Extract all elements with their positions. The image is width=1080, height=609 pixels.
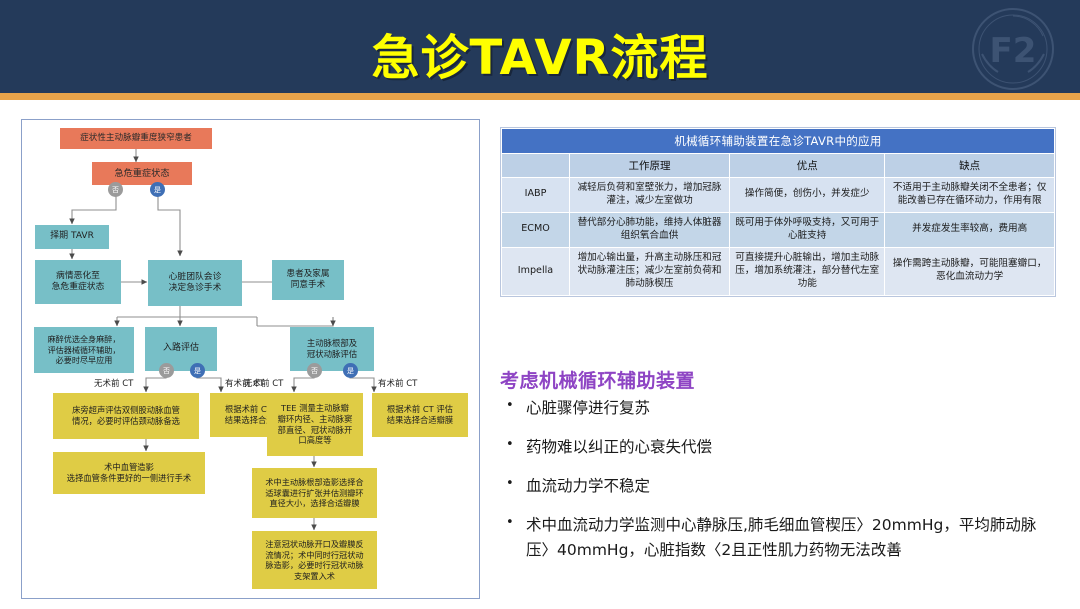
mcs-device-table: 机械循环辅助装置在急诊TAVR中的应用 工作原理 优点 缺点 IABP 减轻后负… [500, 127, 1056, 297]
list-item: • 心脏骤停进行复苏 [500, 396, 1060, 421]
list-item-label: 术中血流动力学监测中心静脉压,肺毛细血管楔压〉20mmHg，平均肺动脉压〉40m… [526, 513, 1046, 563]
list-item: • 术中血流动力学监测中心静脉压,肺毛细血管楔压〉20mmHg，平均肺动脉压〉4… [500, 513, 1060, 563]
list-item: • 药物难以纠正的心衰失代偿 [500, 435, 1060, 460]
flow-node-critical-state: 急危重症状态 [92, 162, 192, 185]
cell-advantage: 操作简便，创伤小，并发症少 [730, 178, 885, 213]
decision-badge-no-1: 否 [108, 182, 123, 197]
list-item: • 血流动力学不稳定 [500, 474, 1060, 499]
flow-node-symptomatic-as: 症状性主动脉瓣重度狭窄患者 [60, 128, 212, 149]
tavr-flowchart-panel: 症状性主动脉瓣重度狭窄患者 急危重症状态 否 是 择期 TAVR 病情恶化至 急… [21, 119, 480, 599]
bullet-marker-icon: • [500, 435, 526, 455]
flow-node-coronary-ostia-check: 注意冠状动脉开口及瓣膜反 流情况；术中同时行冠状动 脉造影，必要时行冠状动脉 支… [252, 531, 377, 589]
table-title: 机械循环辅助装置在急诊TAVR中的应用 [502, 129, 1055, 154]
fuwai-hospital-logo: F2 [960, 6, 1066, 92]
header-accent-bar [0, 93, 1080, 100]
col-header-principle: 工作原理 [570, 154, 730, 178]
cell-disadvantage: 不适用于主动脉瓣关闭不全患者；仅能改善已存在循环动力，作用有限 [885, 178, 1055, 213]
cell-device: ECMO [502, 212, 570, 247]
bullet-marker-icon: • [500, 396, 526, 416]
col-header-advantage: 优点 [730, 154, 885, 178]
cell-disadvantage: 操作需跨主动脉瓣，可能阻塞瓣口，恶化血流动力学 [885, 247, 1055, 295]
flow-node-aortic-root-assessment: 主动脉根部及 冠状动脉评估 [290, 327, 374, 371]
flow-node-bedside-ultrasound: 床旁超声评估双侧股动脉血管 情况，必要时评估颈动脉备选 [53, 393, 199, 439]
cell-advantage: 可直接提升心脏输出，增加主动脉压，增加系统灌注，部分替代左室功能 [730, 247, 885, 295]
list-item-label: 血流动力学不稳定 [526, 474, 650, 499]
flow-node-consent: 患者及家属 同意手术 [272, 260, 344, 300]
list-item-label: 药物难以纠正的心衰失代偿 [526, 435, 712, 460]
cell-device: Impella [502, 247, 570, 295]
svg-text:F2: F2 [990, 31, 1037, 71]
flow-node-tee-measurement: TEE 测量主动脉瓣 瓣环内径、主动脉窦 部直径、冠状动脉开 口高度等 [267, 393, 363, 456]
table-header-row: 工作原理 优点 缺点 [502, 154, 1055, 178]
flow-node-heart-team: 心脏团队会诊 决定急诊手术 [148, 260, 242, 306]
flow-node-root-angio-balloon: 术中主动脉根部造影选择合 适球囊进行扩张并估测瓣环 直径大小，选择合适瓣膜 [252, 468, 377, 518]
cell-principle: 替代部分心肺功能，维持人体脏器组织氧合血供 [570, 212, 730, 247]
decision-badge-yes-1: 是 [150, 182, 165, 197]
edge-label-no-preop-ct-2: 无术前 CT [244, 377, 283, 389]
flow-node-deterioration: 病情恶化至 急危重症状态 [35, 260, 121, 304]
flow-node-anesthesia: 麻醉优选全身麻醉， 评估器械循环辅助， 必要时尽早应用 [34, 327, 134, 373]
page-title: 急诊TAVR流程 [0, 18, 1080, 88]
col-header-device [502, 154, 570, 178]
table-row: IABP 减轻后负荷和室壁张力，增加冠脉灌注，减少左室做功 操作简便，创伤小，并… [502, 178, 1055, 213]
decision-badge-no-3: 否 [307, 363, 322, 378]
flow-node-intraop-angiography: 术中血管造影 选择血管条件更好的一侧进行手术 [53, 452, 205, 494]
cell-device: IABP [502, 178, 570, 213]
edge-label-has-preop-ct-2: 有术前 CT [378, 377, 417, 389]
col-header-disadvantage: 缺点 [885, 154, 1055, 178]
list-item-label: 心脏骤停进行复苏 [526, 396, 650, 421]
table-row: ECMO 替代部分心肺功能，维持人体脏器组织氧合血供 既可用于体外呼吸支持，又可… [502, 212, 1055, 247]
cell-principle: 增加心输出量，升高主动脉压和冠状动脉灌注压；减少左室前负荷和肺动脉楔压 [570, 247, 730, 295]
bullet-marker-icon: • [500, 513, 526, 533]
cell-disadvantage: 并发症发生率较高，费用高 [885, 212, 1055, 247]
flow-node-elective-tavr: 择期 TAVR [35, 225, 109, 249]
decision-badge-yes-2: 是 [190, 363, 205, 378]
cell-principle: 减轻后负荷和室壁张力，增加冠脉灌注，减少左室做功 [570, 178, 730, 213]
page-header: 急诊TAVR流程 F2 [0, 0, 1080, 93]
bullet-marker-icon: • [500, 474, 526, 494]
cell-advantage: 既可用于体外呼吸支持，又可用于心脏支持 [730, 212, 885, 247]
mcs-indication-list: • 心脏骤停进行复苏 • 药物难以纠正的心衰失代偿 • 血流动力学不稳定 • 术… [500, 396, 1060, 578]
edge-label-no-preop-ct-1: 无术前 CT [94, 377, 133, 389]
table-row: Impella 增加心输出量，升高主动脉压和冠状动脉灌注压；减少左室前负荷和肺动… [502, 247, 1055, 295]
table-title-row: 机械循环辅助装置在急诊TAVR中的应用 [502, 129, 1055, 154]
mcs-consider-heading: 考虑机械循环辅助装置 [500, 366, 695, 393]
flow-node-access-assessment: 入路评估 [145, 327, 217, 371]
decision-badge-no-2: 否 [159, 363, 174, 378]
flow-node-ct-select-valve: 根据术前 CT 评估 结果选择合适瓣膜 [372, 393, 468, 437]
decision-badge-yes-3: 是 [343, 363, 358, 378]
